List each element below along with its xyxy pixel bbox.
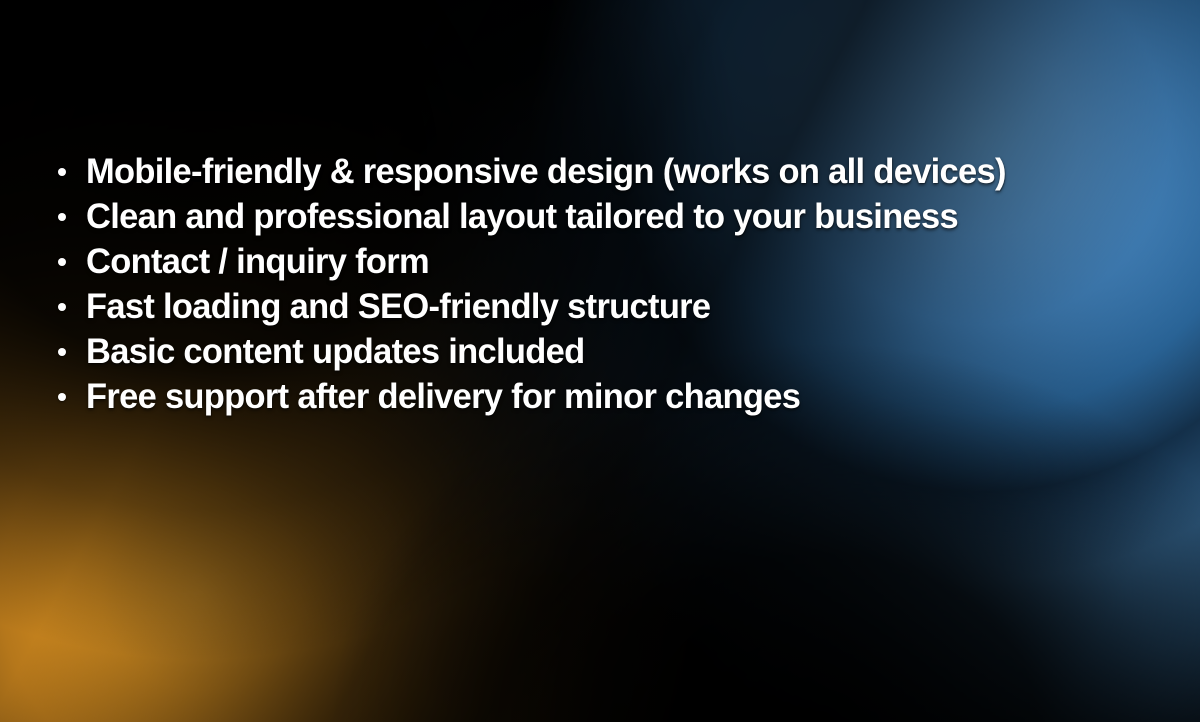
feature-label: Basic content updates included [86, 329, 584, 374]
bullet-dot-icon [58, 168, 66, 176]
feature-label: Fast loading and SEO-friendly structure [86, 284, 710, 329]
feature-list: Mobile-friendly & responsive design (wor… [52, 149, 1200, 419]
feature-label: Contact / inquiry form [86, 239, 429, 284]
bullet-dot-icon [58, 348, 66, 356]
list-item: Basic content updates included [52, 329, 1200, 374]
list-item: Contact / inquiry form [52, 239, 1200, 284]
feature-label: Mobile-friendly & responsive design (wor… [86, 149, 1006, 194]
bullet-dot-icon [58, 258, 66, 266]
list-item: Fast loading and SEO-friendly structure [52, 284, 1200, 329]
bullet-dot-icon [58, 213, 66, 221]
bullet-dot-icon [58, 303, 66, 311]
feature-label: Free support after delivery for minor ch… [86, 374, 800, 419]
list-item: Mobile-friendly & responsive design (wor… [52, 149, 1200, 194]
bullet-dot-icon [58, 393, 66, 401]
list-item: Clean and professional layout tailored t… [52, 194, 1200, 239]
feature-label: Clean and professional layout tailored t… [86, 194, 958, 239]
slide-canvas: Mobile-friendly & responsive design (wor… [0, 0, 1200, 722]
list-item: Free support after delivery for minor ch… [52, 374, 1200, 419]
